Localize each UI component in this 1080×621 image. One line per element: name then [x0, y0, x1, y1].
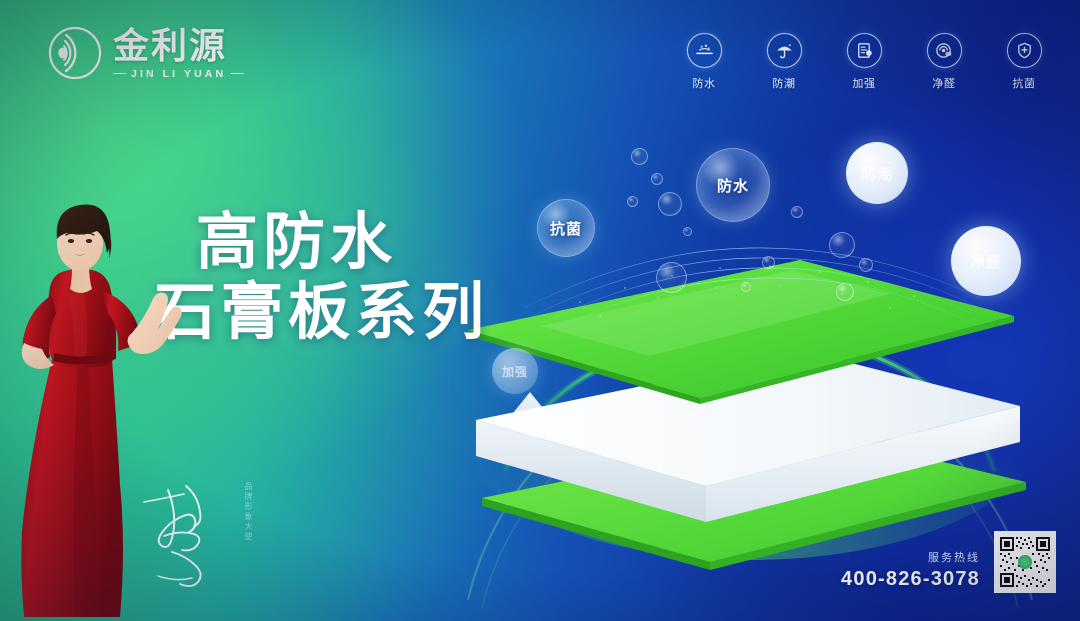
mini-bubble-decoration — [836, 283, 854, 301]
bubble-reinforced: 加强 — [492, 348, 538, 394]
mini-bubble-decoration — [741, 282, 751, 292]
shield-plus-icon — [1007, 33, 1042, 68]
mini-bubble-decoration — [656, 262, 687, 293]
mini-bubble-decoration — [658, 192, 682, 216]
bubble-moisture-proof: 防潮 — [846, 142, 908, 204]
mini-bubble-decoration — [631, 148, 648, 165]
headline-line-2: 石膏板系列 — [154, 278, 489, 348]
bubble-purify: 净醛 — [951, 226, 1021, 296]
feature-icon-strip: 防水 防潮 加强 — [676, 33, 1052, 91]
bubble-label: 防潮 — [861, 163, 893, 184]
bubble-label: 加强 — [502, 363, 528, 380]
hotline-label: 服务热线 — [841, 549, 980, 565]
feature-item-waterproof[interactable]: 防水 — [676, 33, 732, 91]
feature-label: 加强 — [852, 75, 875, 91]
brand-logo[interactable]: 金利源 JIN LI YUAN — [48, 26, 244, 80]
ambassador-caption: 品牌形象大使 — [243, 482, 254, 542]
bubble-waterproof: 防水 — [696, 148, 770, 222]
mini-bubble-decoration — [627, 196, 638, 207]
logo-rule-right — [231, 73, 244, 74]
logo-rule-left — [113, 73, 126, 74]
formaldehyde-purify-icon — [927, 33, 962, 68]
woman-in-red-dress-figure — [0, 191, 204, 621]
brand-name-cn: 金利源 — [113, 28, 244, 65]
feature-item-antibacterial[interactable]: 抗菌 — [996, 33, 1052, 91]
reinforced-document-icon — [847, 33, 882, 68]
product-stage — [420, 130, 1080, 621]
feature-item-reinforced[interactable]: 加强 — [836, 33, 892, 91]
bubble-label: 抗菌 — [550, 218, 582, 239]
bubble-antibacterial: 抗菌 — [537, 199, 595, 257]
mini-bubble-decoration — [762, 256, 775, 269]
feature-label: 抗菌 — [1012, 75, 1035, 91]
promo-banner: 金利源 JIN LI YUAN 防水 — [0, 0, 1080, 621]
feature-label: 净醛 — [932, 75, 955, 91]
contact-info: 服务热线 400-826-3078 — [841, 549, 980, 591]
umbrella-icon — [767, 33, 802, 68]
vignette-overlay — [0, 0, 1080, 621]
brand-name-en: JIN LI YUAN — [131, 68, 226, 80]
mini-bubble-decoration — [859, 258, 873, 272]
bubble-label: 防水 — [717, 175, 749, 196]
mini-bubble-decoration — [829, 232, 855, 258]
water-drop-repel-icon — [687, 33, 722, 68]
feature-item-moisture-proof[interactable]: 防潮 — [756, 33, 812, 91]
sound-wave-circle-logo-icon — [48, 26, 102, 80]
qr-code-icon[interactable] — [994, 531, 1056, 593]
brand-logo-text: 金利源 JIN LI YUAN — [113, 28, 244, 80]
ambassador-signature: 品牌形象大使 — [142, 476, 252, 591]
mini-bubble-decoration — [791, 206, 803, 218]
feature-label: 防潮 — [772, 75, 795, 91]
feature-label: 防水 — [692, 75, 715, 91]
mini-bubble-decoration — [683, 227, 692, 236]
headline-line-1: 高防水 — [196, 208, 489, 278]
page-title: 高防水 石膏板系列 — [196, 208, 489, 348]
mini-bubble-decoration — [651, 173, 663, 185]
hotline-number[interactable]: 400-826-3078 — [841, 568, 980, 591]
feature-item-purify[interactable]: 净醛 — [916, 33, 972, 91]
bubble-label: 净醛 — [970, 251, 1002, 272]
brand-name-en-row: JIN LI YUAN — [113, 68, 244, 80]
